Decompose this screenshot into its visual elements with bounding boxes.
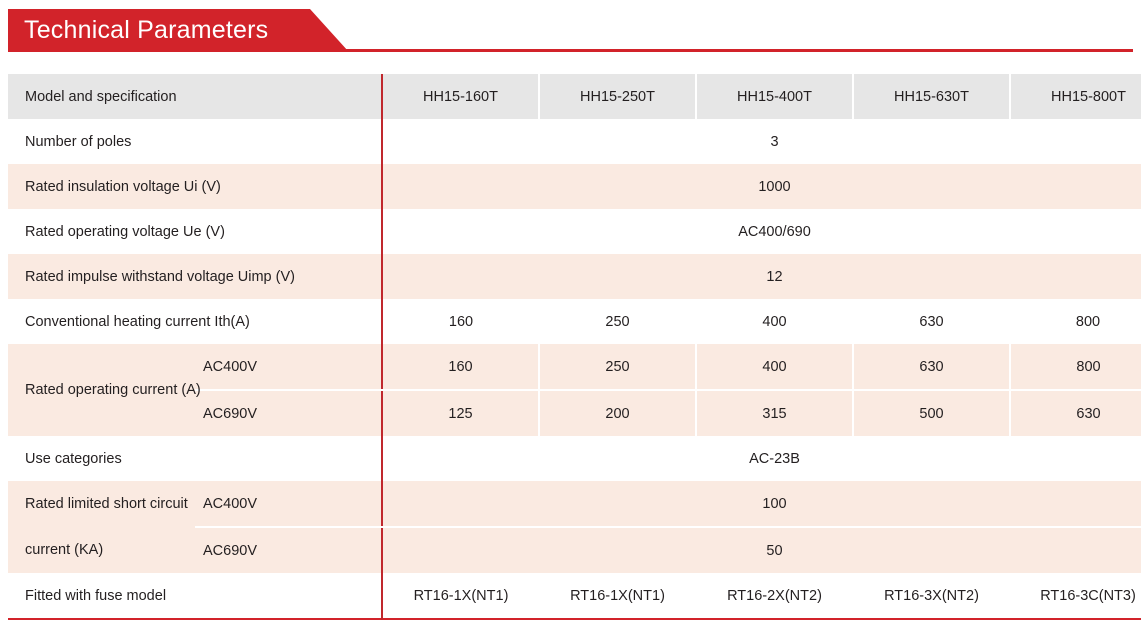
cell-fuse-model-800t: RT16-3C(NT3) <box>1010 573 1141 619</box>
technical-parameters-page: Technical Parameters Model and specifica… <box>0 0 1141 564</box>
row-value-short-circuit-ac690v: 50 <box>382 527 1141 573</box>
column-header-model-3: HH15-400T <box>696 74 853 119</box>
row-value-use-categories: AC-23B <box>382 436 1141 481</box>
table-row: current (KA) AC690V 50 <box>8 527 1141 573</box>
table-row: Rated insulation voltage Ui (V) 1000 <box>8 164 1141 209</box>
row-value-short-circuit-ac400v: 100 <box>382 481 1141 527</box>
cell-heating-current-160t: 160 <box>382 299 539 344</box>
column-header-model-1: HH15-160T <box>382 74 539 119</box>
column-header-model-4: HH15-630T <box>853 74 1010 119</box>
row-label-short-circuit-current-line1: Rated limited short circuit <box>8 481 195 527</box>
cell-operating-current-ac690v-630t: 500 <box>853 390 1010 436</box>
cell-operating-current-ac400v-400t: 400 <box>696 344 853 390</box>
table-row: Rated impulse withstand voltage Uimp (V)… <box>8 254 1141 299</box>
row-value-rated-operating-voltage: AC400/690 <box>382 209 1141 254</box>
table-row: Rated operating voltage Ue (V) AC400/690 <box>8 209 1141 254</box>
row-label-rated-operating-current: Rated operating current (A) <box>8 344 195 436</box>
row-label-number-of-poles: Number of poles <box>8 119 382 164</box>
row-label-short-circuit-current-line2: current (KA) <box>8 527 195 573</box>
cell-operating-current-ac400v-630t: 630 <box>853 344 1010 390</box>
technical-parameters-table: Model and specification HH15-160T HH15-2… <box>8 74 1141 620</box>
sub-label-short-circuit-ac400v: AC400V <box>195 481 382 527</box>
cell-operating-current-ac400v-800t: 800 <box>1010 344 1141 390</box>
cell-fuse-model-250t: RT16-1X(NT1) <box>539 573 696 619</box>
column-header-model-2: HH15-250T <box>539 74 696 119</box>
row-value-number-of-poles: 3 <box>382 119 1141 164</box>
cell-fuse-model-630t: RT16-3X(NT2) <box>853 573 1010 619</box>
row-label-conventional-heating-current: Conventional heating current Ith(A) <box>8 299 382 344</box>
table-row: Number of poles 3 <box>8 119 1141 164</box>
row-label-use-categories: Use categories <box>8 436 382 481</box>
table-row: Fitted with fuse model RT16-1X(NT1) RT16… <box>8 573 1141 619</box>
column-header-model-5: HH15-800T <box>1010 74 1141 119</box>
cell-heating-current-250t: 250 <box>539 299 696 344</box>
row-label-rated-operating-voltage: Rated operating voltage Ue (V) <box>8 209 382 254</box>
cell-heating-current-630t: 630 <box>853 299 1010 344</box>
section-header: Technical Parameters <box>0 0 1141 60</box>
cell-fuse-model-160t: RT16-1X(NT1) <box>382 573 539 619</box>
row-value-rated-impulse-withstand-voltage: 12 <box>382 254 1141 299</box>
cell-operating-current-ac690v-400t: 315 <box>696 390 853 436</box>
sub-label-operating-current-ac690v: AC690V <box>195 390 382 436</box>
table-row: Use categories AC-23B <box>8 436 1141 481</box>
cell-operating-current-ac400v-250t: 250 <box>539 344 696 390</box>
cell-heating-current-400t: 400 <box>696 299 853 344</box>
row-label-rated-insulation-voltage: Rated insulation voltage Ui (V) <box>8 164 382 209</box>
row-label-fitted-with-fuse-model: Fitted with fuse model <box>8 573 382 619</box>
sub-label-operating-current-ac400v: AC400V <box>195 344 382 390</box>
cell-operating-current-ac690v-160t: 125 <box>382 390 539 436</box>
table-row: Rated limited short circuit AC400V 100 <box>8 481 1141 527</box>
cell-operating-current-ac690v-800t: 630 <box>1010 390 1141 436</box>
row-value-rated-insulation-voltage: 1000 <box>382 164 1141 209</box>
page-title: Technical Parameters <box>24 9 268 51</box>
cell-operating-current-ac690v-250t: 200 <box>539 390 696 436</box>
cell-operating-current-ac400v-160t: 160 <box>382 344 539 390</box>
cell-heating-current-800t: 800 <box>1010 299 1141 344</box>
banner-underline <box>8 49 1133 52</box>
column-header-model-spec: Model and specification <box>8 74 382 119</box>
table-header-row: Model and specification HH15-160T HH15-2… <box>8 74 1141 119</box>
sub-label-short-circuit-ac690v: AC690V <box>195 527 382 573</box>
table-row: Rated operating current (A) AC400V 160 2… <box>8 344 1141 390</box>
row-label-rated-impulse-withstand-voltage: Rated impulse withstand voltage Uimp (V) <box>8 254 382 299</box>
table-row: Conventional heating current Ith(A) 160 … <box>8 299 1141 344</box>
cell-fuse-model-400t: RT16-2X(NT2) <box>696 573 853 619</box>
